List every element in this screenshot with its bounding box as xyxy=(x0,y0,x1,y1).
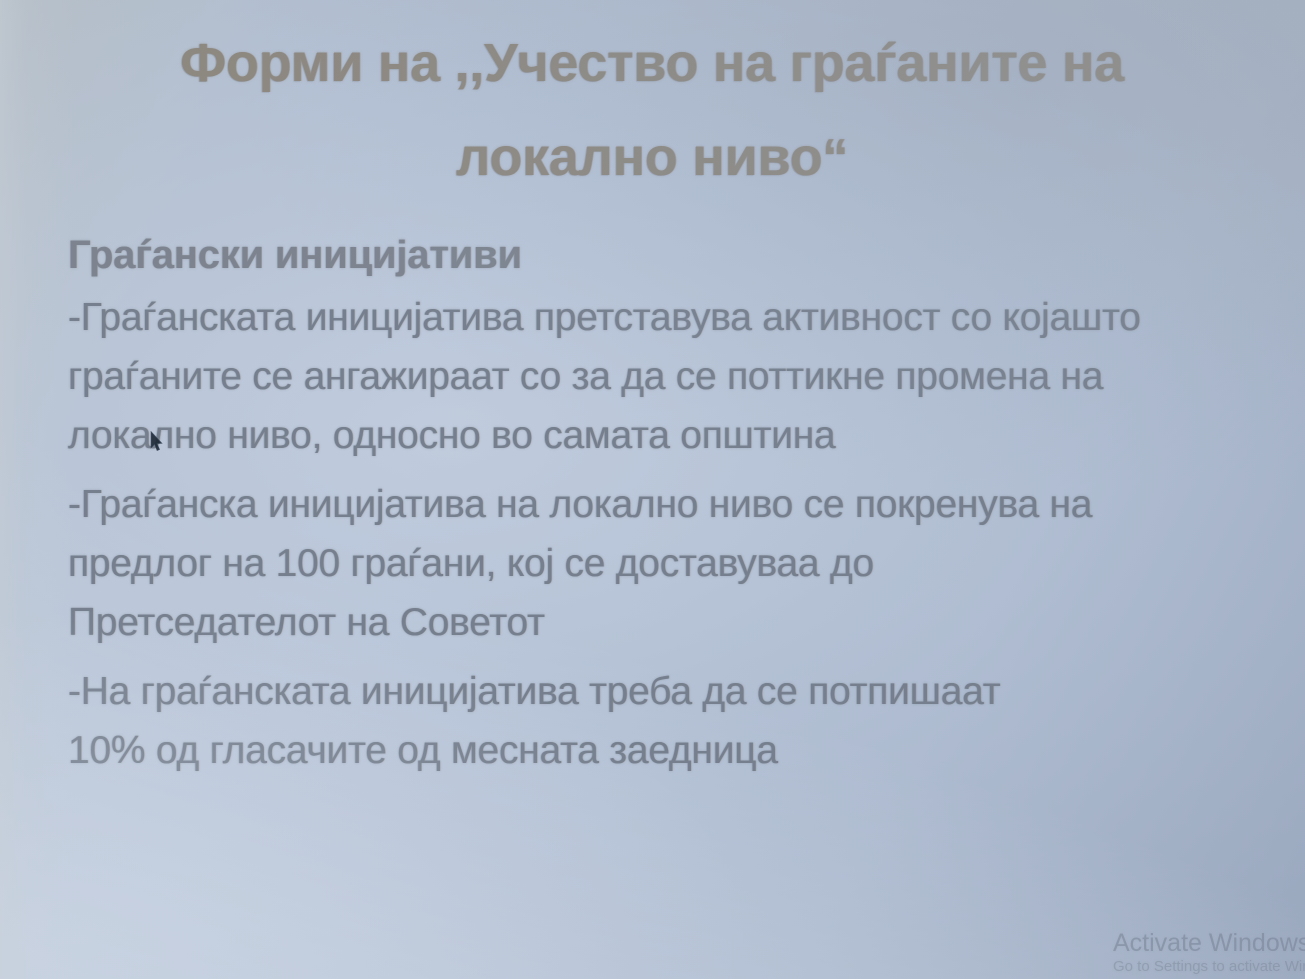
closing-quote-mark: “ xyxy=(822,129,848,187)
slide-body: Граѓански иницијативи -Граѓанската иници… xyxy=(68,228,1258,780)
mouse-pointer-icon xyxy=(150,431,163,452)
body-subheading: Граѓански иницијативи xyxy=(68,228,1258,282)
slide-title-line-2-text: локално ниво xyxy=(456,127,822,187)
body-paragraph-2: -Граѓанска иницијатива на локално ниво с… xyxy=(68,475,1128,652)
slide-title-line-1: Форми на ,,Учество на граѓаните на xyxy=(180,33,1124,93)
slide-title: Форми на ,,Учество на граѓаните на локал… xyxy=(62,16,1242,205)
slide-content: Форми на ,,Учество на граѓаните на локал… xyxy=(0,0,1305,979)
projected-slide-photo: Форми на ,,Учество на граѓаните на локал… xyxy=(0,0,1305,979)
body-paragraph-1: -Граѓанската иницијатива претставува акт… xyxy=(68,288,1228,465)
body-paragraph-3: -На граѓанската иницијатива треба да се … xyxy=(68,662,1058,780)
slide-title-line-2: локално ниво“ xyxy=(62,110,1242,205)
